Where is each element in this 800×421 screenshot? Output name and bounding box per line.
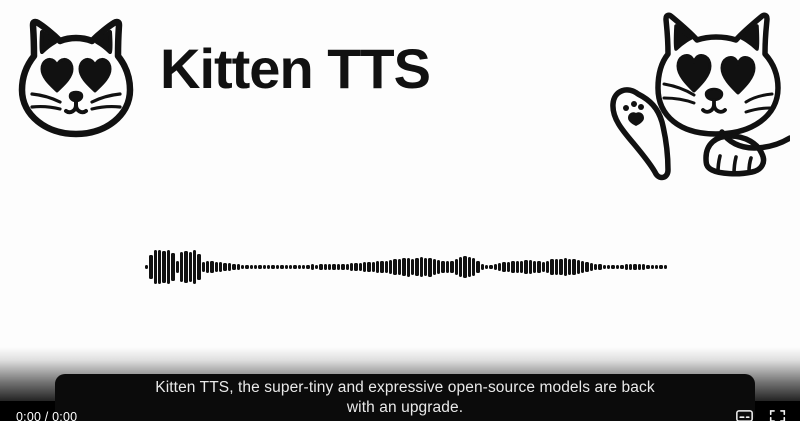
waveform-bar xyxy=(664,265,667,268)
waveform-bar xyxy=(550,259,553,274)
waveform-bar xyxy=(315,265,318,270)
waveform-bar xyxy=(511,261,514,272)
waveform-bar xyxy=(306,265,309,270)
waveform-bar xyxy=(311,264,314,269)
waveform-bar xyxy=(590,263,593,271)
waveform-bar xyxy=(546,261,549,274)
waveform-bar xyxy=(611,265,614,268)
waveform-bar xyxy=(237,264,240,269)
waveform-bar xyxy=(520,261,523,273)
waveform-bar xyxy=(585,262,588,272)
player-controls-right xyxy=(736,409,786,421)
waveform-bar xyxy=(298,265,301,270)
waveform-bar xyxy=(455,259,458,276)
waveform-bar xyxy=(171,253,174,281)
waving-cat-heart-eyes-icon xyxy=(600,0,790,194)
waveform-bar xyxy=(223,263,226,271)
waveform-bar xyxy=(568,259,571,276)
waveform-bar xyxy=(616,265,619,269)
waveform-bar xyxy=(446,261,449,272)
waveform-bar xyxy=(411,259,414,276)
waveform-bar xyxy=(407,258,410,277)
waveform-bar xyxy=(176,261,179,272)
waveform-bar xyxy=(572,259,575,274)
waveform-bar xyxy=(302,265,305,270)
video-player-frame: Kitten TTS xyxy=(0,0,800,421)
caption-line-1: Kitten TTS, the super-tiny and expressiv… xyxy=(69,378,741,398)
waveform-bar xyxy=(625,264,628,269)
waveform-bar xyxy=(263,265,266,269)
waveform-bar xyxy=(424,258,427,275)
waveform-bar xyxy=(402,258,405,275)
waveform-bar xyxy=(289,265,292,269)
waveform-bar xyxy=(162,251,165,284)
player-controls: 0:00 / 0:00 xyxy=(0,405,800,421)
waveform-bar xyxy=(206,261,209,274)
waveform-bar xyxy=(184,251,187,283)
waveform-bar xyxy=(638,264,641,270)
waveform-bar xyxy=(332,264,335,270)
time-display: 0:00 / 0:00 xyxy=(16,410,77,421)
waveform-bar xyxy=(180,252,183,282)
waveform-bar xyxy=(219,262,222,271)
waveform-bar xyxy=(354,263,357,270)
waveform-bar xyxy=(372,262,375,272)
waveform-bar xyxy=(328,264,331,270)
waveform-bar xyxy=(598,264,601,269)
waveform-bar xyxy=(215,262,218,272)
waveform-bar xyxy=(393,259,396,275)
waveform-bar xyxy=(651,265,654,270)
waveform-bar xyxy=(555,259,558,276)
waveform-bar xyxy=(158,250,161,285)
waveform-bar xyxy=(420,257,423,277)
waveform-bar xyxy=(472,258,475,275)
waveform-bar xyxy=(633,264,636,270)
waveform-bar xyxy=(659,265,662,269)
waveform-bar xyxy=(537,261,540,272)
waveform-bar xyxy=(197,254,200,281)
waveform-bar xyxy=(485,265,488,270)
waveform-bar xyxy=(149,255,152,279)
waveform-bar xyxy=(241,265,244,270)
waveform-bar xyxy=(376,261,379,272)
waveform-bar xyxy=(271,265,274,269)
waveform-bar xyxy=(437,260,440,274)
waveform-bar xyxy=(193,250,196,283)
waveform-bar xyxy=(363,262,366,271)
waveform-bar xyxy=(476,261,479,272)
waveform-bar xyxy=(324,264,327,269)
waveform-bar xyxy=(507,262,510,271)
waveform-bar xyxy=(202,262,205,272)
waveform-bar xyxy=(655,265,658,269)
waveform-bar xyxy=(533,261,536,274)
cat-face-heart-eyes-icon xyxy=(8,12,144,144)
waveform-bar xyxy=(529,260,532,274)
waveform-bar xyxy=(385,261,388,274)
waveform-bar xyxy=(337,264,340,270)
waveform-bar xyxy=(524,260,527,274)
waveform-bar xyxy=(642,264,645,269)
waveform-bar xyxy=(459,257,462,278)
waveform-bar xyxy=(189,252,192,282)
waveform-bar xyxy=(280,265,283,269)
waveform-bar xyxy=(629,264,632,270)
waveform-bar xyxy=(433,259,436,275)
waveform-bar xyxy=(346,264,349,271)
waveform-bar xyxy=(607,265,610,269)
waveform-bar xyxy=(232,264,235,271)
waveform-bar xyxy=(646,265,649,270)
waveform-bar xyxy=(254,265,257,268)
waveform-bar xyxy=(285,265,288,270)
waveform-bar xyxy=(441,261,444,274)
waveform-bar xyxy=(319,264,322,270)
waveform-bar xyxy=(415,258,418,276)
video-slide: Kitten TTS xyxy=(0,0,800,421)
fullscreen-icon[interactable] xyxy=(769,409,786,421)
waveform-bar xyxy=(341,264,344,270)
waveform-bar xyxy=(516,261,519,274)
page-title: Kitten TTS xyxy=(160,38,430,100)
waveform-bar xyxy=(267,265,270,268)
waveform-bar xyxy=(389,260,392,274)
waveform-bar xyxy=(594,264,597,271)
waveform-bar xyxy=(350,263,353,271)
waveform-bar xyxy=(559,259,562,275)
waveform-bar xyxy=(293,265,296,269)
waveform-bar xyxy=(167,250,170,284)
waveform-bar xyxy=(380,261,383,274)
audio-waveform xyxy=(145,248,667,286)
waveform-bar xyxy=(450,261,453,274)
waveform-bar xyxy=(276,265,279,269)
waveform-bar xyxy=(245,265,248,269)
waveform-bar xyxy=(620,265,623,270)
waveform-bar xyxy=(145,265,148,269)
waveform-bar xyxy=(581,261,584,272)
waveform-bar xyxy=(468,257,471,277)
waveform-bar xyxy=(428,258,431,277)
waveform-bar xyxy=(250,265,253,269)
waveform-bar xyxy=(367,262,370,272)
waveform-bar xyxy=(228,263,231,271)
waveform-bar xyxy=(494,264,497,269)
waveform-bar xyxy=(502,262,505,272)
waveform-bar xyxy=(359,263,362,271)
waveform-bar xyxy=(258,265,261,268)
waveform-bar xyxy=(210,261,213,272)
waveform-bar xyxy=(603,265,606,269)
waveform-bar xyxy=(463,256,466,279)
waveform-bar xyxy=(481,264,484,270)
subtitles-icon[interactable] xyxy=(736,409,753,421)
waveform-bar xyxy=(498,263,501,271)
waveform-bar xyxy=(577,260,580,274)
waveform-bar xyxy=(398,259,401,274)
waveform-bar xyxy=(564,258,567,275)
waveform-bar xyxy=(154,250,157,283)
waveform-bar xyxy=(489,265,492,269)
waveform-bar xyxy=(542,262,545,273)
